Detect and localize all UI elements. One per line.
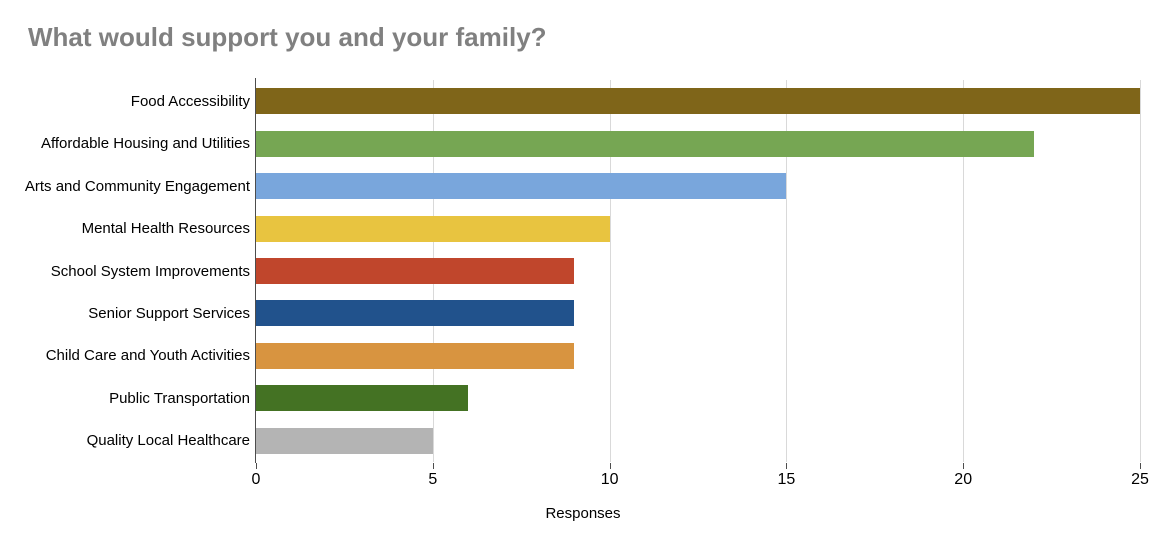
bar-row	[256, 258, 574, 284]
y-axis-label: Child Care and Youth Activities	[10, 347, 250, 364]
bar-chart: What would support you and your family? …	[0, 0, 1166, 552]
x-tick-mark	[786, 463, 787, 469]
y-axis-label: Mental Health Resources	[10, 220, 250, 237]
y-axis-label: Quality Local Healthcare	[10, 432, 250, 449]
x-tick-mark	[1140, 463, 1141, 469]
x-tick-mark	[433, 463, 434, 469]
y-axis-category-labels: Food AccessibilityAffordable Housing and…	[8, 80, 250, 462]
bar-row	[256, 216, 610, 242]
bar-row	[256, 428, 433, 454]
gridline	[1140, 80, 1141, 462]
bar-row	[256, 173, 786, 199]
bar	[256, 216, 610, 242]
x-tick-label: 5	[428, 471, 437, 489]
bar-row	[256, 343, 574, 369]
bar-row	[256, 131, 1034, 157]
x-tick-mark	[963, 463, 964, 469]
bar	[256, 258, 574, 284]
bar	[256, 428, 433, 454]
bar-row	[256, 300, 574, 326]
bar-row	[256, 385, 468, 411]
bar	[256, 385, 468, 411]
y-axis-label: Public Transportation	[10, 390, 250, 407]
bar	[256, 343, 574, 369]
bar	[256, 88, 1140, 114]
bar	[256, 131, 1034, 157]
y-axis-label: Arts and Community Engagement	[10, 178, 250, 195]
x-axis-title: Responses	[0, 505, 1166, 522]
x-tick-label: 15	[777, 471, 795, 489]
x-tick-label: 0	[252, 471, 261, 489]
plot-area	[256, 80, 1140, 462]
chart-title: What would support you and your family?	[28, 22, 547, 53]
x-tick-mark	[256, 463, 257, 469]
x-tick-label: 20	[954, 471, 972, 489]
bar-row	[256, 88, 1140, 114]
x-tick-mark	[610, 463, 611, 469]
x-tick-label: 25	[1131, 471, 1149, 489]
y-axis-label: Affordable Housing and Utilities	[10, 135, 250, 152]
y-axis-label: Food Accessibility	[10, 93, 250, 110]
y-axis-label: School System Improvements	[10, 263, 250, 280]
x-tick-label: 10	[601, 471, 619, 489]
bar	[256, 300, 574, 326]
y-axis-label: Senior Support Services	[10, 305, 250, 322]
bar	[256, 173, 786, 199]
x-axis: 0510152025	[256, 463, 1140, 503]
